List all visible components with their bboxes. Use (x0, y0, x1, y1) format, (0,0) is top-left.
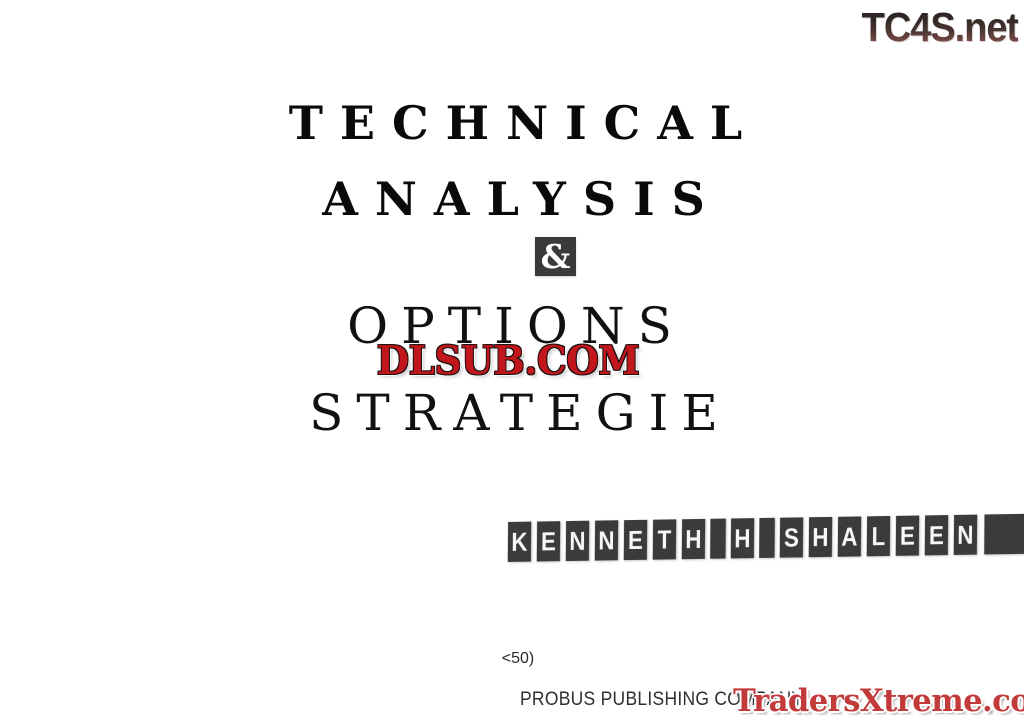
author-letter-tile: K (508, 522, 532, 562)
author-letter-tile (710, 519, 726, 559)
tc4s-net-watermark: TC4S.net (849, 2, 1018, 54)
author-letter-tile (759, 518, 775, 558)
cover-subtitle-line-strategie: STRATEGIE (8, 384, 1024, 442)
book-cover-page: TC4S.net TECHNICAL ANALYSIS & OPTIONS DL… (0, 0, 1024, 724)
dlsub-com-watermark: DLSUB.COM (372, 338, 645, 384)
author-letter-tile: N (595, 520, 619, 560)
author-letter-tile: T (653, 519, 677, 559)
ampersand-block: & (535, 237, 576, 276)
author-name-plate: KENNETH H SHALEEN (506, 514, 1024, 562)
author-letter-tile (984, 514, 1024, 555)
author-letter-tile: N (954, 515, 978, 555)
author-letter-tile: A (838, 516, 862, 556)
author-letter-tile: N (566, 521, 590, 561)
cover-title-line-technical: TECHNICAL (12, 96, 1024, 150)
author-letter-tile: E (624, 520, 648, 560)
cover-title-line-analysis: ANALYSIS (10, 172, 1024, 226)
author-letter-tile: E (896, 516, 920, 556)
author-letter-tile: S (780, 517, 804, 557)
ocr-artifact-text: <50) (6, 650, 1024, 668)
author-letter-tile: E (925, 515, 949, 555)
author-letter-tile: H (809, 517, 833, 557)
author-letter-tile: L (867, 516, 891, 556)
author-letter-tile: H (682, 519, 706, 559)
tradersxtreme-com-watermark: TradersXtreme.com (733, 682, 1020, 720)
author-letter-tile: H (731, 518, 755, 558)
author-letter-tile: E (537, 521, 561, 561)
